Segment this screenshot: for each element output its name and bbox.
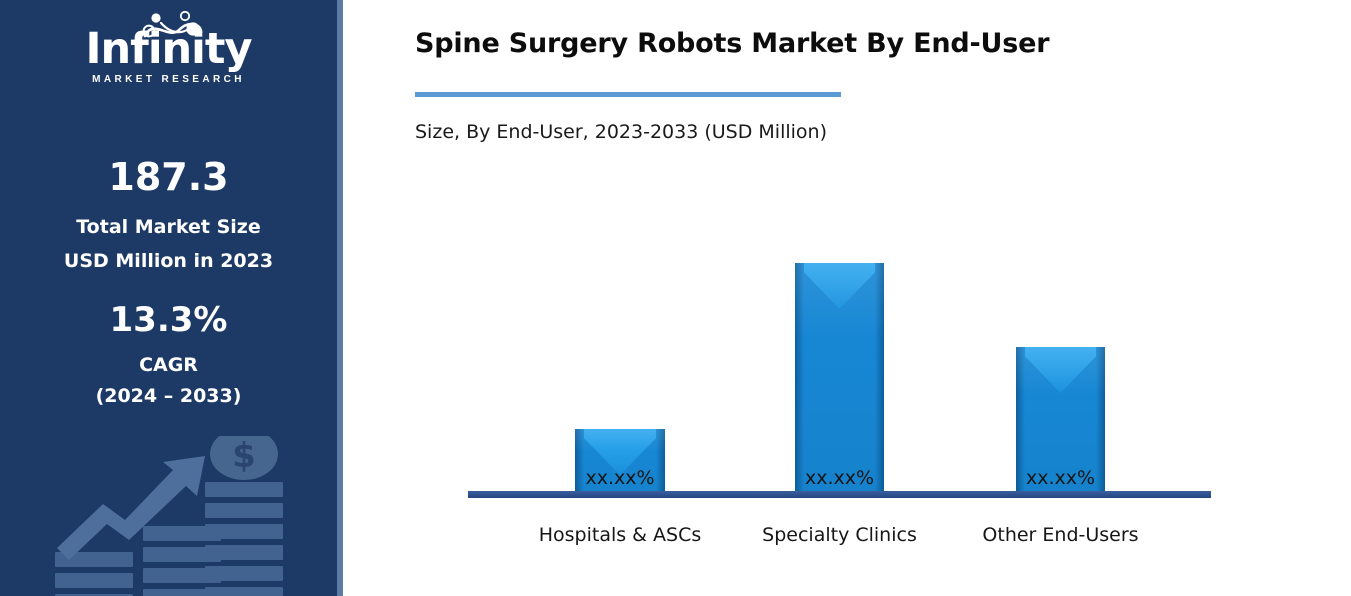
chart-panel: Spine Surgery Robots Market By End-User … bbox=[343, 0, 1351, 596]
bar-category-label-0: Hospitals & ASCs bbox=[539, 524, 702, 546]
logo-tagline: MARKET RESEARCH bbox=[0, 74, 337, 85]
svg-text:$: $ bbox=[232, 436, 256, 476]
bar-value-label-1: xx.xx% bbox=[805, 467, 874, 489]
bar-value-label-0: xx.xx% bbox=[585, 467, 654, 489]
bar-category-label-1: Specialty Clinics bbox=[762, 524, 917, 546]
total-market-size-label-line2: USD Million in 2023 bbox=[0, 250, 337, 272]
bar-value-label-2: xx.xx% bbox=[1026, 467, 1095, 489]
cagr-value: 13.3% bbox=[0, 300, 337, 340]
total-market-size-value: 187.3 bbox=[0, 155, 337, 199]
bar-body-shading bbox=[795, 263, 884, 498]
x-axis-line bbox=[468, 491, 1211, 498]
cagr-period-label: (2024 – 2033) bbox=[0, 385, 337, 407]
bar-specialty-clinics[interactable] bbox=[795, 263, 884, 498]
total-market-size-label-line1: Total Market Size bbox=[0, 216, 337, 238]
bar-category-label-2: Other End-Users bbox=[982, 524, 1138, 546]
growth-chart-coins-icon: $ bbox=[55, 436, 285, 596]
chart-page: Infinity MARKET RESEARCH 187.3 Total Mar… bbox=[0, 0, 1351, 596]
plot-area: xx.xx% Hospitals & ASCs xx.xx% Specialty… bbox=[343, 0, 1351, 596]
cagr-label-line1: CAGR bbox=[0, 354, 337, 376]
brand-logo: Infinity MARKET RESEARCH bbox=[0, 8, 337, 94]
sidebar: Infinity MARKET RESEARCH 187.3 Total Mar… bbox=[0, 0, 337, 596]
logo-wordmark: Infinity bbox=[0, 24, 337, 74]
